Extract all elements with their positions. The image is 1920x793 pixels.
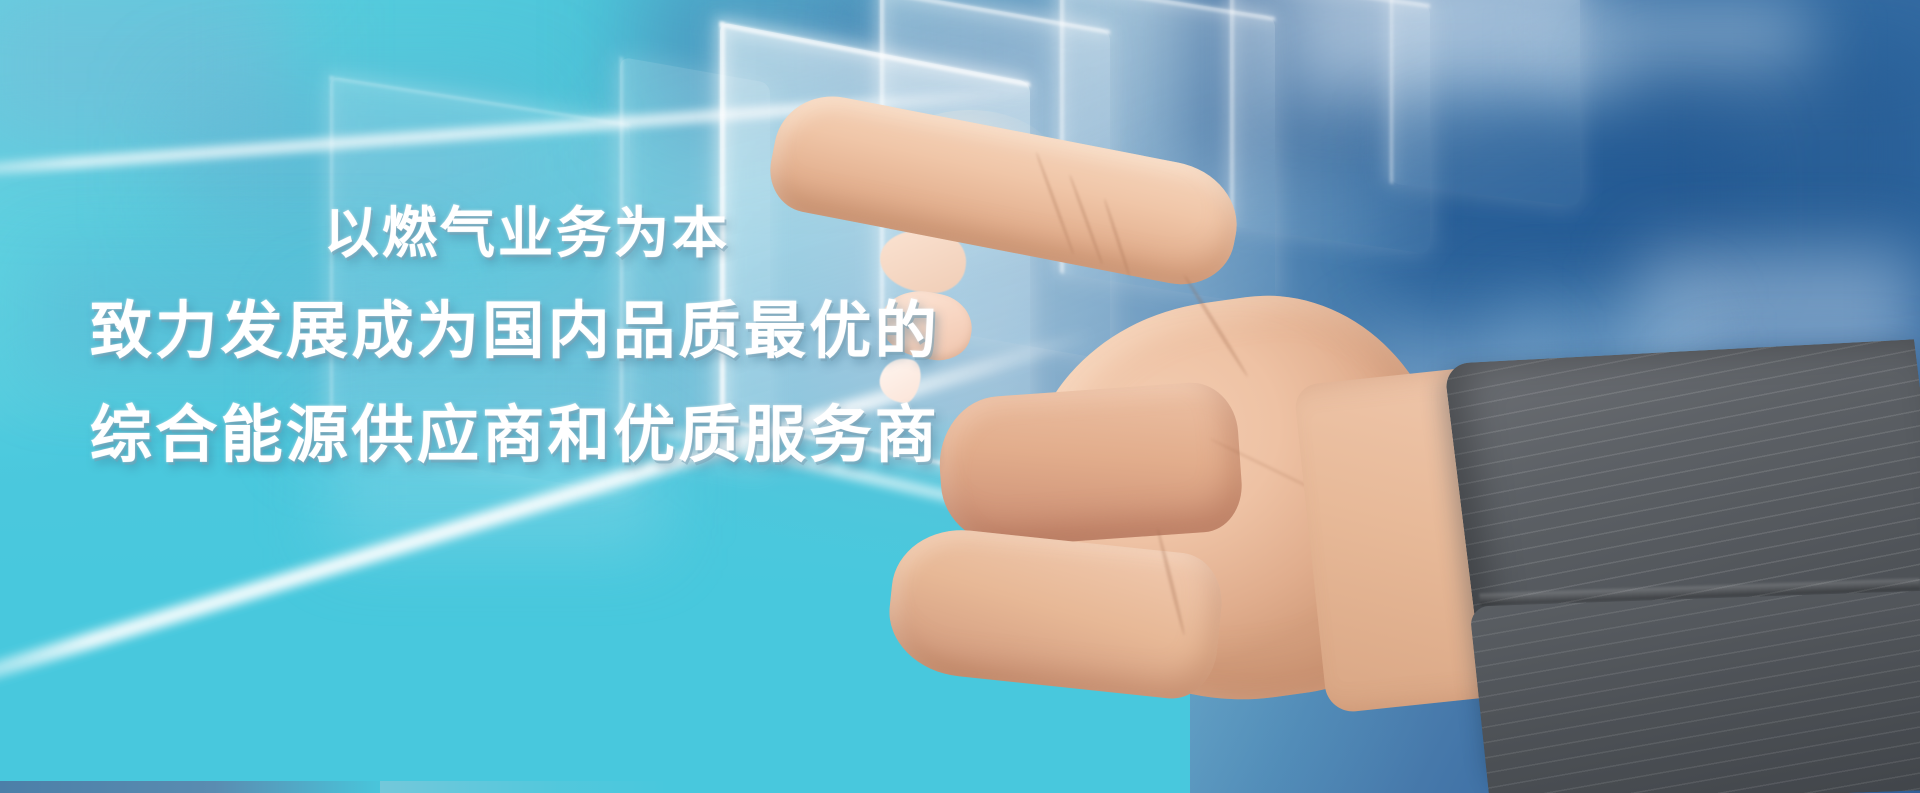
pointing-hand bbox=[880, 110, 1920, 793]
index-fingernail bbox=[875, 284, 978, 366]
bottom-strip-left bbox=[0, 781, 390, 793]
suit-sleeve-lower bbox=[1469, 591, 1920, 793]
hero-banner: 以燃气业务为本 致力发展成为国内品质最优的 综合能源供应商和优质服务商 bbox=[0, 0, 1920, 793]
index-fingernail-tip bbox=[876, 355, 924, 406]
middle-finger bbox=[935, 380, 1245, 551]
bottom-strip-right bbox=[380, 781, 670, 793]
